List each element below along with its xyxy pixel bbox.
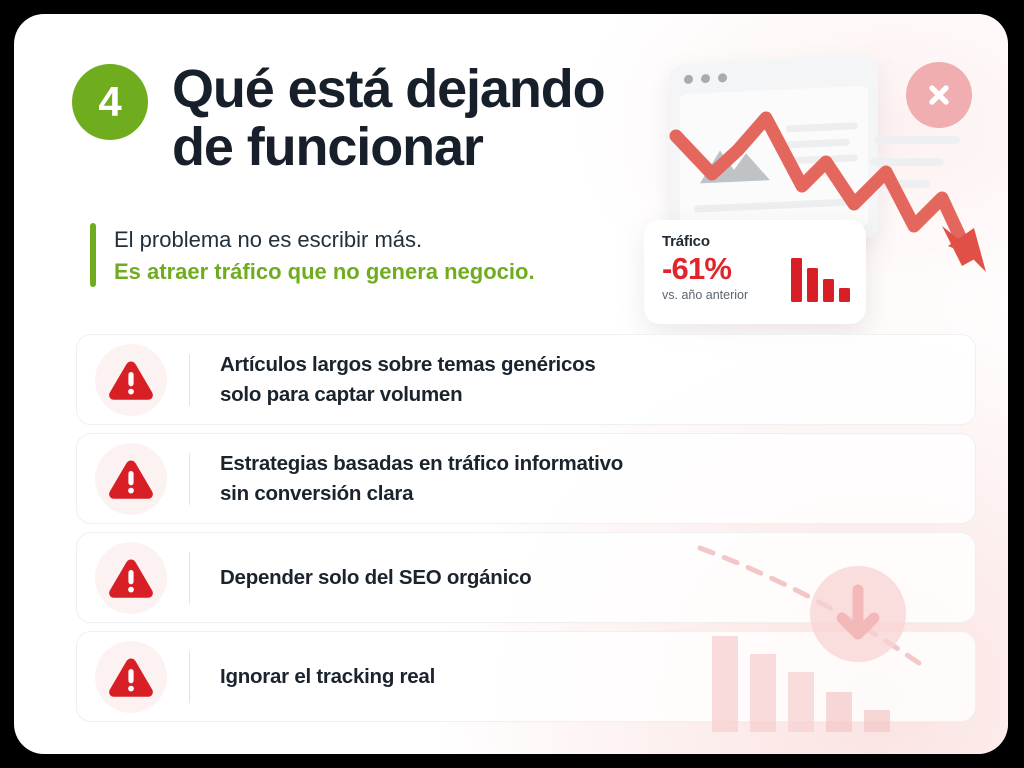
warning-icon-background-4: [95, 641, 167, 713]
warning-text-2-line-1: Estrategias basadas en tráfico informati…: [220, 452, 623, 475]
subtitle-line-2: Es atraer tráfico que no genera negocio.: [114, 256, 535, 288]
warning-divider-2: [189, 453, 190, 505]
warning-list-item-2[interactable]: Estrategias basadas en tráfico informati…: [76, 433, 976, 524]
warning-text-2-line-2: sin conversión clara: [220, 482, 413, 505]
traffic-stat-card: Tráfico -61% vs. año anterior: [644, 220, 866, 324]
traffic-stat-texts: Tráfico -61% vs. año anterior: [662, 233, 748, 302]
warning-triangle-icon: [108, 458, 154, 500]
step-number-badge: 4: [72, 64, 148, 140]
warning-list: Artículos largos sobre temas genéricos s…: [76, 334, 976, 722]
warning-list-item-1[interactable]: Artículos largos sobre temas genéricos s…: [76, 334, 976, 425]
warning-text-3: Depender solo del SEO orgánico: [220, 563, 531, 592]
traffic-card-bar-chart: [791, 246, 850, 302]
close-x-badge: [906, 62, 972, 128]
traffic-bar-1: [791, 258, 802, 302]
subtitle-line-1: El problema no es escribir más.: [114, 224, 535, 256]
slide-header: 4 Qué está dejando de funcionar: [72, 60, 605, 177]
subtitle-accent-bar: [90, 223, 96, 287]
warning-icon-background-2: [95, 443, 167, 515]
traffic-card-label: Tráfico: [662, 233, 748, 250]
page-title: Qué está dejando de funcionar: [172, 60, 605, 177]
warning-text-2: Estrategias basadas en tráfico informati…: [220, 449, 623, 507]
page-title-line-1: Qué está dejando: [172, 59, 605, 119]
warning-triangle-icon: [108, 359, 154, 401]
traffic-card-value: -61%: [662, 250, 748, 288]
warning-divider-4: [189, 651, 190, 703]
traffic-bar-4: [839, 288, 850, 302]
warning-triangle-icon: [108, 656, 154, 698]
warning-divider-1: [189, 354, 190, 406]
warning-list-item-4[interactable]: Ignorar el tracking real: [76, 631, 976, 722]
slide-root: 4 Qué está dejando de funcionar El probl…: [0, 0, 1024, 768]
warning-divider-3: [189, 552, 190, 604]
subtitle-lines: El problema no es escribir más. Es atrae…: [114, 223, 535, 287]
warning-list-item-3[interactable]: Depender solo del SEO orgánico: [76, 532, 976, 623]
warning-icon-background-3: [95, 542, 167, 614]
page-title-line-2: de funcionar: [172, 117, 483, 177]
slide-card: 4 Qué está dejando de funcionar El probl…: [14, 14, 1008, 754]
warning-text-1: Artículos largos sobre temas genéricos s…: [220, 350, 596, 408]
warning-text-4: Ignorar el tracking real: [220, 662, 435, 691]
subtitle-block: El problema no es escribir más. Es atrae…: [90, 223, 535, 287]
traffic-bar-2: [807, 268, 818, 302]
traffic-bar-3: [823, 279, 834, 302]
warning-triangle-icon: [108, 557, 154, 599]
close-x-icon: [924, 80, 954, 110]
warning-icon-background-1: [95, 344, 167, 416]
warning-text-1-line-1: Artículos largos sobre temas genéricos: [220, 353, 596, 376]
traffic-card-comparison: vs. año anterior: [662, 288, 748, 302]
warning-text-1-line-2: solo para captar volumen: [220, 383, 462, 406]
step-number-label: 4: [98, 81, 121, 123]
